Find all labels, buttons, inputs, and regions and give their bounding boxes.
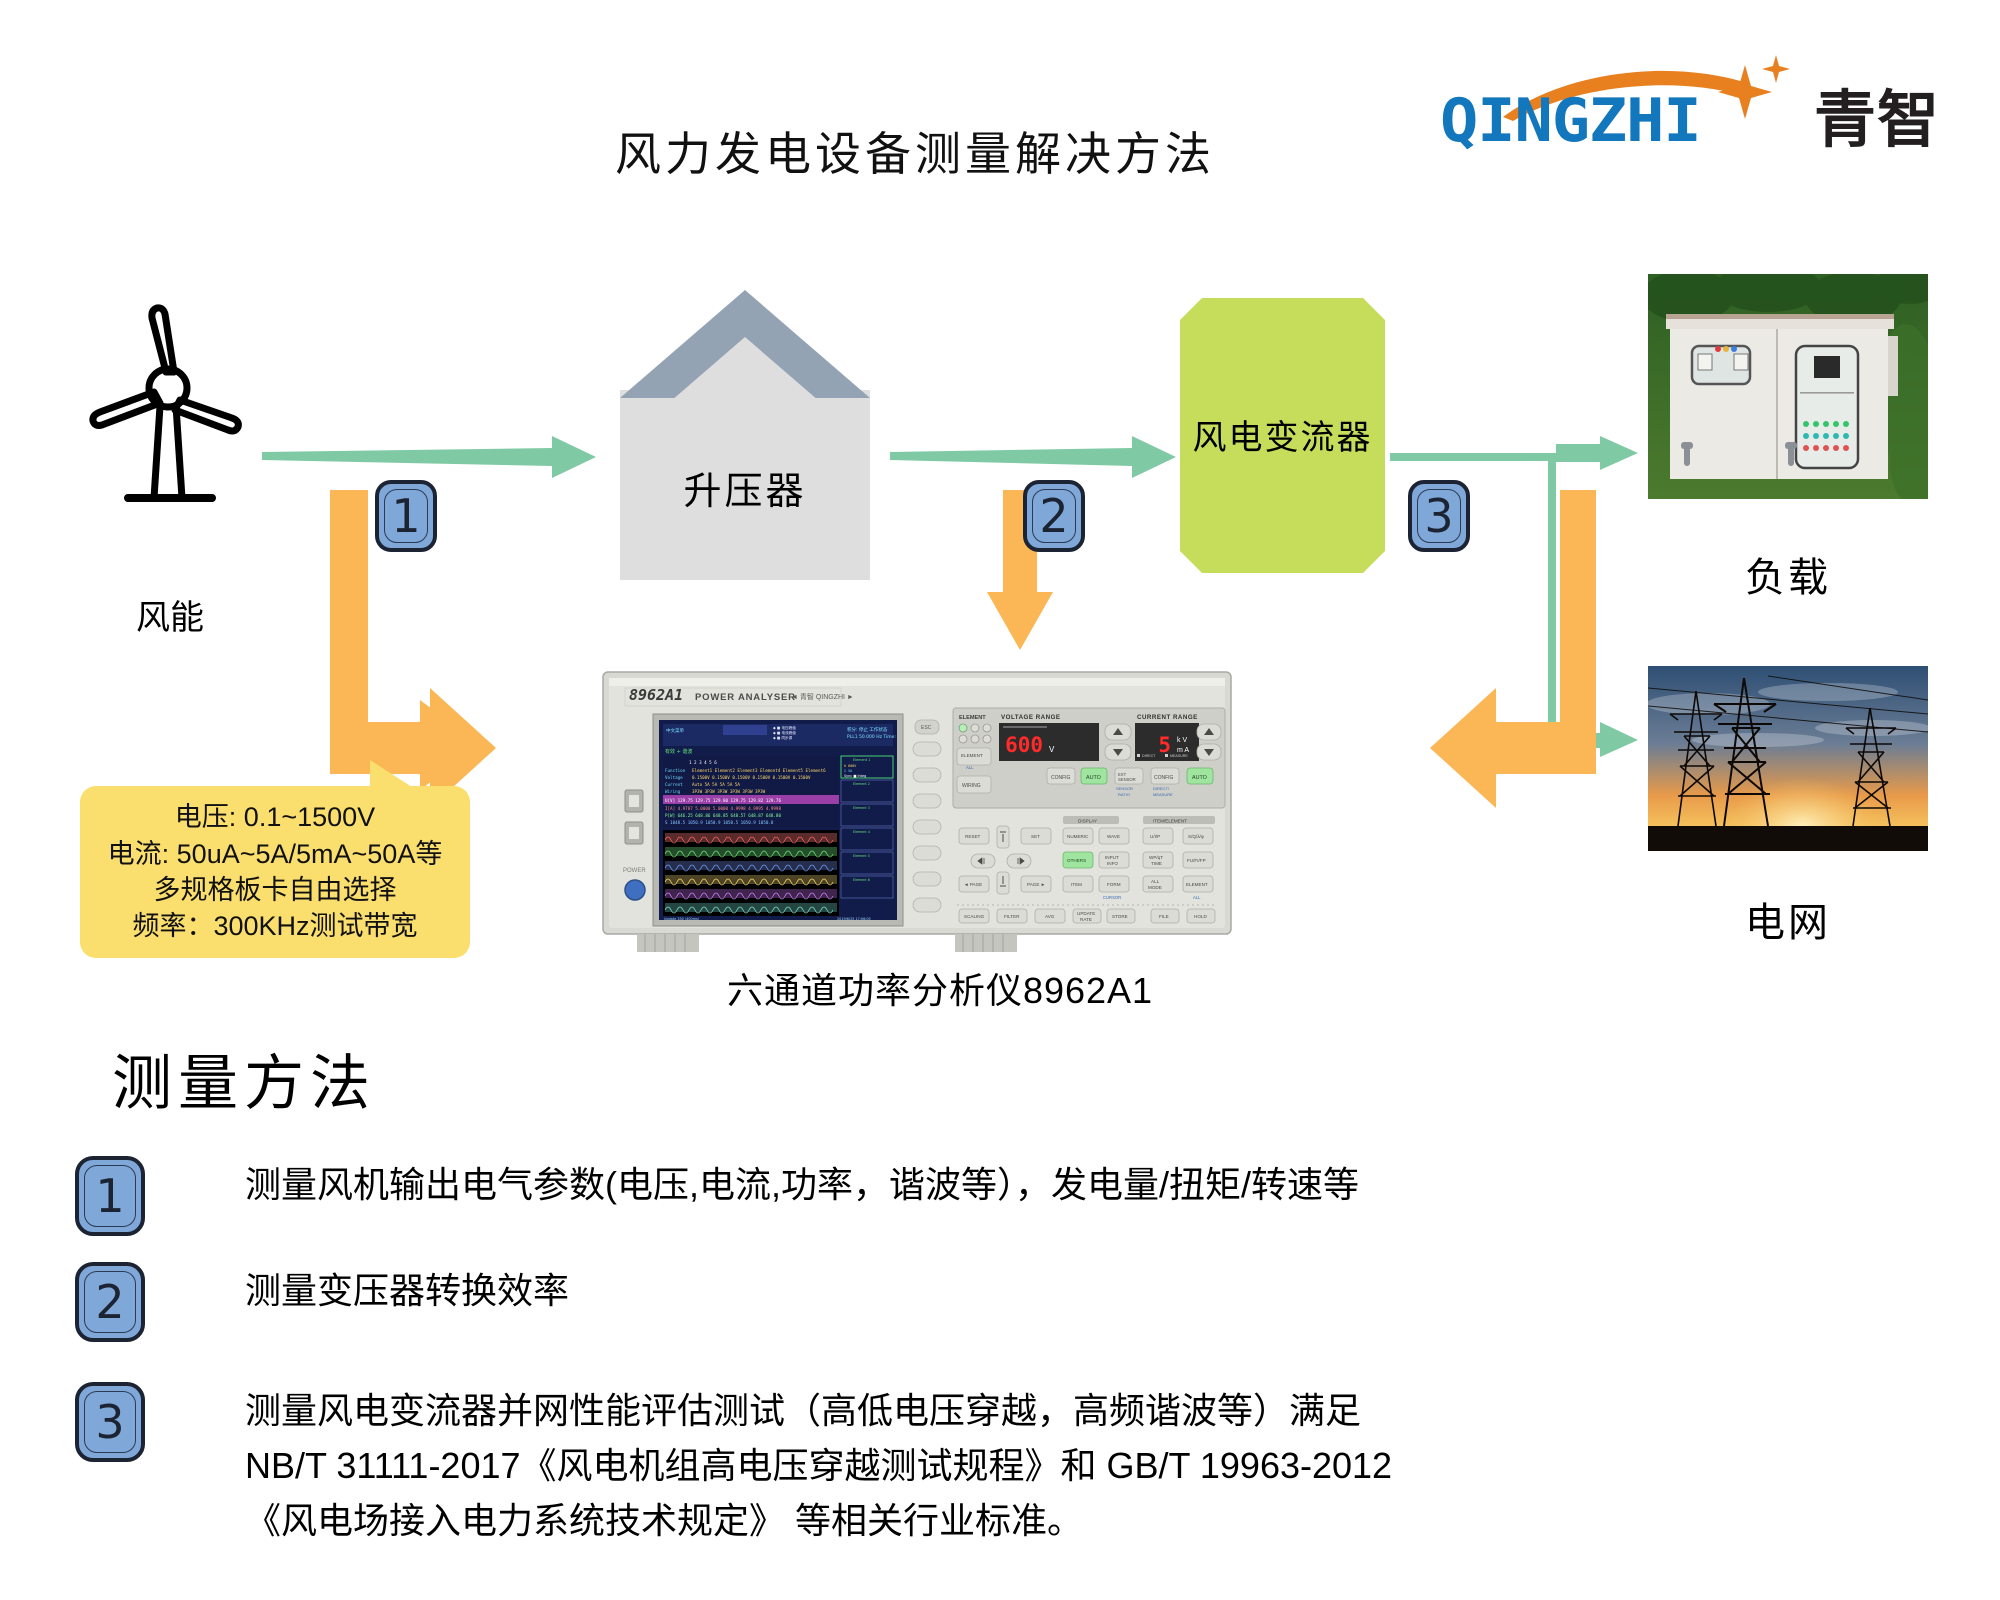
svg-text:◆ ■ 电流峰值: ◆ ■ 电流峰值	[773, 730, 796, 735]
svg-text:PLL1 50.000 Hz Time:: PLL1 50.000 Hz Time:	[847, 734, 896, 740]
svg-text:ELEMENT: ELEMENT	[961, 753, 983, 758]
svg-text:POWER: POWER	[623, 868, 646, 874]
svg-text:S 1048.5 1050.9 1050.9 105: S 1048.5 1050.9 1050.9 1050.5 1050.9 105…	[665, 820, 774, 825]
power-grid-photo	[1648, 666, 1928, 851]
brand-logo: QINGZHI 青智	[1440, 55, 1940, 160]
svg-text:AVG: AVG	[1045, 914, 1055, 919]
svg-text:Element 5: Element 5	[853, 854, 870, 858]
badge-2-number: 2	[1027, 484, 1081, 548]
step-3-text-line-1: 测量风电变流器并网性能评估测试（高低电压穿越，高频谐波等）满足	[245, 1384, 1361, 1439]
step-3-number: 3	[79, 1386, 141, 1458]
svg-text:k V: k V	[1177, 737, 1187, 744]
callout-line-3: 多规格板卡自由选择	[154, 872, 397, 908]
svg-text:MEASURE: MEASURE	[1170, 754, 1188, 758]
svg-text:AUTO: AUTO	[1086, 775, 1101, 781]
wind-turbine-icon	[70, 300, 270, 540]
wind-converter-box: 风电变流器	[1180, 298, 1385, 573]
badge-1-shape: 1	[375, 480, 437, 552]
svg-text:0.1500V 0.1500V 0.1500V 0.1500: 0.1500V 0.1500V 0.1500V 0.1500V 0.1500V …	[692, 775, 811, 780]
svg-text:Voltage: Voltage	[665, 775, 683, 780]
svg-text:Wiring: Wiring	[665, 789, 681, 794]
svg-text:1 2 3 4 5 6: 1 2 3 4 5 6	[689, 760, 717, 765]
svg-text:I 5A: I 5A	[844, 769, 852, 773]
svg-text:AUTO: AUTO	[1192, 775, 1207, 781]
analyzer-caption: 六通道功率分析仪8962A1	[590, 962, 1290, 1014]
svg-text:m A: m A	[1177, 747, 1189, 754]
svg-text:WP/qT: WP/qT	[1149, 855, 1163, 860]
step-2-badge[interactable]: 2	[75, 1262, 145, 1342]
step-3-text-line-2: NB/T 31111-2017《风电机组高电压穿越测试规程》和 GB/T 199…	[245, 1439, 1392, 1494]
svg-text:PAGE ►: PAGE ►	[1027, 882, 1045, 887]
svg-text:MEASURE: MEASURE	[1153, 792, 1173, 797]
svg-text:ELEMENT: ELEMENT	[959, 715, 986, 721]
svg-text:CURSOR: CURSOR	[1103, 895, 1121, 900]
svg-text:P[W] 646.25 648.86 648.85 648: P[W] 646.25 648.86 648.85 648.57 648.87 …	[665, 813, 781, 818]
booster-house: 升压器	[620, 290, 870, 580]
converter-label: 风电变流器	[1180, 410, 1385, 459]
step-3-text-line-3: 《风电场接入电力系统技术规定》 等相关行业标准。	[245, 1494, 1083, 1549]
green-arrow-1	[262, 436, 596, 478]
svg-text:VOLTAGE RANGE: VOLTAGE RANGE	[1001, 714, 1061, 721]
svg-text:ESC: ESC	[921, 725, 932, 731]
logo-en-text: QINGZHI	[1440, 91, 1701, 151]
load-cabinet-photo	[1648, 274, 1928, 499]
svg-text:TIME: TIME	[1151, 861, 1162, 866]
svg-text:Update 330 (400ms): Update 330 (400ms)	[664, 917, 700, 921]
svg-text:STORE: STORE	[1112, 914, 1128, 919]
callout-line-4: 频率：300KHz测试带宽	[132, 908, 417, 944]
badge-1-number: 1	[379, 484, 433, 548]
svg-text:INFO: INFO	[1107, 861, 1118, 866]
step-1-text: 测量风机输出电气参数(电压,电流,功率，谐波等），发电量/扭矩/转速等	[245, 1158, 1359, 1213]
callout-line-1: 电压: 0.1~1500V	[175, 799, 375, 835]
svg-text:U 600V: U 600V	[844, 764, 856, 768]
svg-text:FILE: FILE	[1159, 914, 1169, 919]
green-arrow-2	[890, 436, 1176, 478]
spec-callout: 电压: 0.1~1500V 电流: 50uA~5A/5mA~50A等 多规格板卡…	[80, 786, 470, 958]
step-1-number: 1	[79, 1160, 141, 1232]
svg-text:S/Q/λ/φ: S/Q/λ/φ	[1188, 834, 1204, 839]
svg-text:ALL: ALL	[1151, 879, 1160, 884]
svg-text:NUMERIC: NUMERIC	[1067, 834, 1089, 839]
svg-text:SCALING: SCALING	[964, 914, 985, 919]
logo-zh-text: 青智	[1814, 89, 1940, 151]
svg-text:FILTER: FILTER	[1004, 914, 1020, 919]
svg-text:Element 2: Element 2	[853, 782, 870, 786]
svg-text:CONFIG: CONFIG	[1051, 775, 1071, 781]
svg-text:600: 600	[1005, 733, 1043, 757]
svg-text:◄ PAGE: ◄ PAGE	[964, 882, 982, 887]
badge-2-shape: 2	[1023, 480, 1085, 552]
svg-text:Element 3: Element 3	[853, 806, 870, 810]
svg-text:Element 4: Element 4	[853, 830, 870, 834]
badge-3-shape: 3	[1408, 480, 1470, 552]
svg-text:SENSOR: SENSOR	[1116, 786, 1133, 791]
svg-text:U/I/P: U/I/P	[1150, 834, 1160, 839]
svg-text:CURRENT RANGE: CURRENT RANGE	[1137, 714, 1198, 721]
svg-text:I[A] 4.9787 5.0000 5.0000 4.9: I[A] 4.9787 5.0000 5.0000 4.9998 4.9995 …	[665, 806, 781, 811]
svg-text:Sync ■ Integ: Sync ■ Integ	[844, 774, 866, 778]
svg-text:WIRING: WIRING	[962, 783, 981, 789]
svg-text:FORM: FORM	[1107, 882, 1121, 887]
svg-text:8962A1: 8962A1	[629, 686, 683, 704]
svg-text:Element 6: Element 6	[853, 878, 870, 882]
svg-text:HOLD: HOLD	[1194, 914, 1207, 919]
load-label: 负载	[1648, 545, 1928, 603]
page-title: 风力发电设备测量解决方法	[615, 118, 1315, 184]
svg-text:Function: Function	[665, 768, 686, 773]
step-2-text: 测量变压器转换效率	[245, 1264, 569, 1319]
svg-text:CONFIG: CONFIG	[1154, 775, 1174, 781]
svg-text:◆ ■ 同步源: ◆ ■ 同步源	[773, 735, 793, 740]
svg-text:2019/6/25 17:06:05: 2019/6/25 17:06:05	[837, 917, 871, 921]
svg-text:RESET: RESET	[965, 834, 981, 839]
svg-text:积分: 停止 工作状态: 积分: 停止 工作状态	[847, 726, 888, 733]
callout-line-2: 电流: 50uA~5A/5mA~50A等	[108, 836, 443, 872]
svg-text:Element1 Element2 Element3 Ele: Element1 Element2 Element3 Element4 Elem…	[692, 768, 826, 773]
svg-text:DIRECT/: DIRECT/	[1153, 786, 1170, 791]
svg-text:POWER ANALYSER: POWER ANALYSER	[695, 692, 796, 703]
grid-label: 电网	[1648, 890, 1928, 948]
svg-text:3P3W 3P3W 3P3W 3P3W 3P3W: 3P3W 3P3W 3P3W 3P3W 3P3W 3P3W	[692, 789, 766, 794]
svg-text:RATE: RATE	[1080, 917, 1092, 922]
svg-text:UPDATE: UPDATE	[1077, 911, 1095, 916]
svg-text:有效 + 谐波: 有效 + 谐波	[665, 748, 692, 755]
booster-label: 升压器	[620, 460, 870, 515]
svg-text:ITEM/ELEMENT: ITEM/ELEMENT	[1153, 819, 1187, 824]
svg-text:ITEM: ITEM	[1071, 882, 1082, 887]
svg-text:DIRECT: DIRECT	[1142, 754, 1156, 758]
svg-text:INPUT: INPUT	[1105, 855, 1119, 860]
svg-text:U[V] 129.75 129.75 129.80 129: U[V] 129.75 129.75 129.80 129.75 129.82 …	[665, 798, 781, 803]
svg-text:FU/FI/FP: FU/FI/FP	[1187, 858, 1206, 863]
svg-text:V: V	[1049, 745, 1055, 754]
svg-text:中文菜单: 中文菜单	[666, 727, 684, 734]
svg-text:Element 1: Element 1	[853, 758, 870, 762]
step-2-number: 2	[79, 1266, 141, 1338]
step-1-badge[interactable]: 1	[75, 1156, 145, 1236]
callout-tail	[370, 760, 412, 787]
step-3-badge[interactable]: 3	[75, 1382, 145, 1462]
svg-text:SET: SET	[1031, 834, 1040, 839]
svg-text:OTHERS: OTHERS	[1067, 858, 1086, 863]
svg-text:Auto 5A 5A 5A 5A: Auto 5A 5A 5A 5A 5A	[692, 782, 740, 787]
svg-text:◄ 青智 QINGZHI ►: ◄ 青智 QINGZHI ►	[791, 692, 854, 701]
svg-text:Current: Current	[665, 782, 683, 787]
svg-text:RATIO: RATIO	[1118, 792, 1130, 797]
wind-energy-label: 风能	[60, 590, 280, 639]
power-analyzer-device: 8962A1 POWER ANALYSER ◄ 青智 QINGZHI ► 中文菜…	[597, 668, 1237, 956]
svg-text:◆ ■ 电压峰值: ◆ ■ 电压峰值	[773, 725, 796, 730]
badge-3-number: 3	[1412, 484, 1466, 548]
svg-text:DISPLAY: DISPLAY	[1078, 819, 1097, 824]
svg-text:ALL: ALL	[966, 765, 974, 770]
svg-text:SENSOR: SENSOR	[1118, 777, 1136, 782]
svg-text:ALL: ALL	[1193, 895, 1201, 900]
booster-roof-inner	[620, 337, 870, 445]
svg-text:WAVE: WAVE	[1107, 834, 1120, 839]
methods-heading: 测量方法	[112, 1035, 376, 1122]
svg-text:ELEMENT: ELEMENT	[1186, 882, 1208, 887]
svg-text:MODE: MODE	[1148, 885, 1162, 890]
